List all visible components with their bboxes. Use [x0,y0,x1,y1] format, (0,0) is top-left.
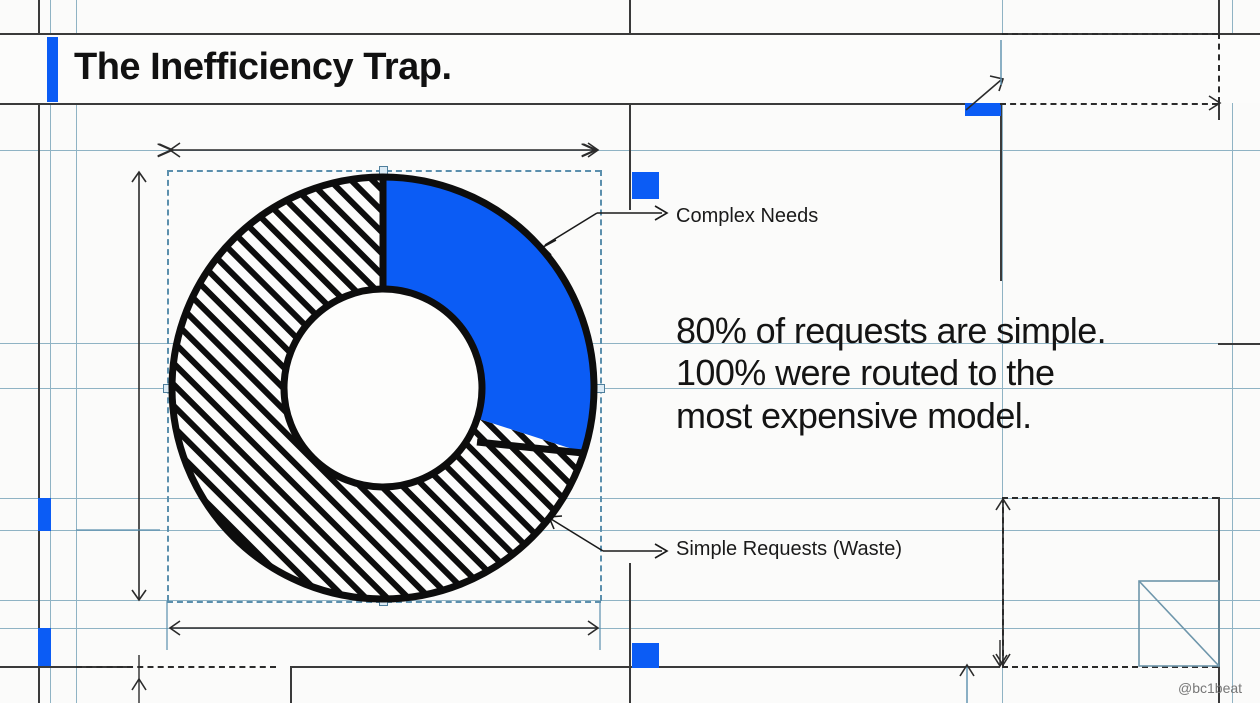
statement-block: 80% of requests are simple. 100% were ro… [676,310,1106,437]
accent-block-chart-top [632,172,659,199]
statement-line-3: most expensive model. [676,395,1106,437]
callout-label-complex-needs: Complex Needs [676,205,818,228]
donut-inner-hole [284,289,482,487]
title-accent-bar [47,37,58,102]
dashed-guide-lower-left [76,666,276,668]
arrow-up-bottom [960,665,974,703]
accent-block-chart-bottom [632,643,659,668]
arrow-down-left-edge [132,655,146,703]
accent-block-left-lower [38,628,51,666]
statement-line-1: 80% of requests are simple. [676,310,1106,352]
guide-line-v [50,0,51,703]
rule-line-chart-right [629,563,631,703]
guide-line-v [1232,0,1233,703]
dashed-box-bottom-right [1002,497,1218,499]
image-placeholder-icon [1139,581,1219,666]
rule-line-lower [290,666,292,703]
callout-label-simple-requests: Simple Requests (Waste) [676,538,902,561]
blueprint-canvas: The Inefficiency Trap. [0,0,1260,703]
rule-line-center [1000,103,1002,281]
watermark: @bc1beat [1178,680,1242,696]
dashed-box-bottom-right [1002,497,1004,666]
donut-chart[interactable] [163,166,603,606]
guide-line-v [76,0,77,703]
arrow-down-bottom [993,640,1007,666]
dashed-box-top-right [1218,33,1220,103]
statement-line-2: 100% were routed to the [676,352,1106,394]
rule-line-right [1218,497,1220,703]
accent-block-left-upper [38,498,51,531]
rule-line-left [38,0,40,703]
accent-block-upper-right [965,103,1001,116]
dashed-box-top-right [1000,103,1218,105]
page-title: The Inefficiency Trap. [74,46,452,89]
dashed-box-bottom-right [1002,666,1218,668]
rule-line-chart-right [629,0,631,210]
rule-line-header-bottom [0,103,975,105]
donut-chart-svg[interactable] [163,166,603,606]
rule-line-mid [1218,343,1260,345]
dimension-left [132,172,146,600]
dashed-box-top-right [1002,33,1218,35]
